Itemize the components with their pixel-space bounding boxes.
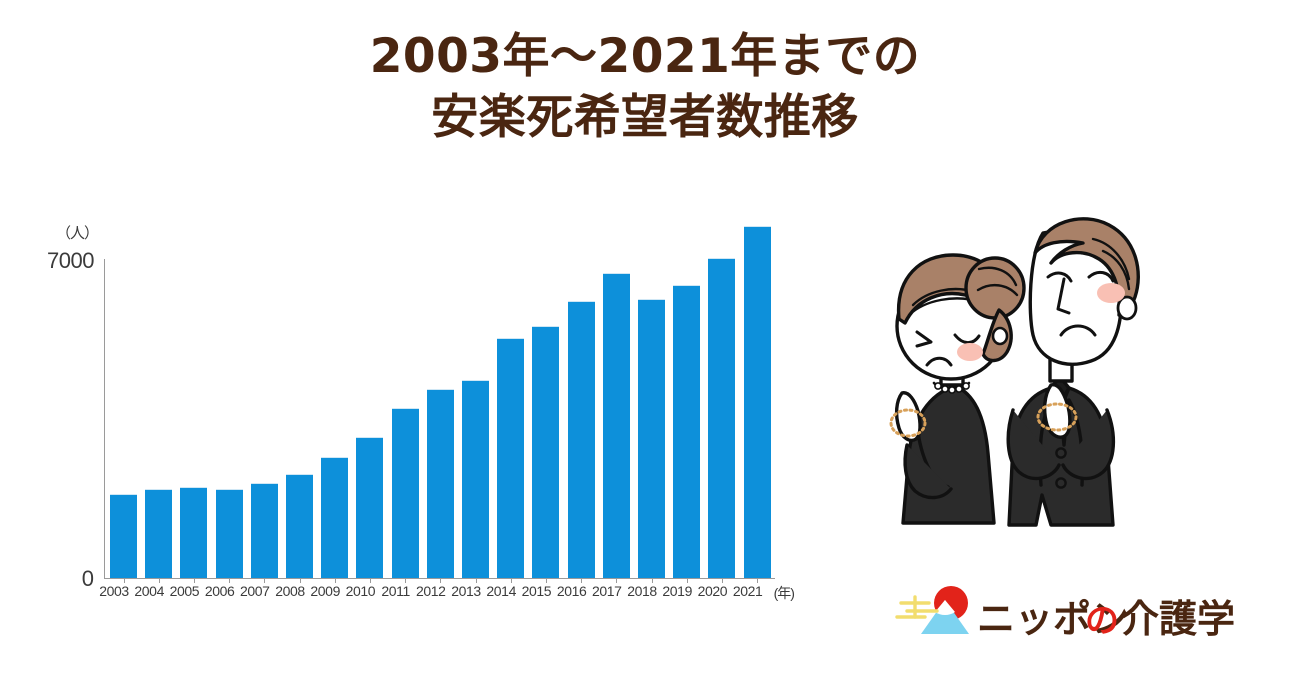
bar-2014 [497, 338, 524, 578]
bar-2020 [708, 258, 735, 578]
bar-2005 [180, 487, 207, 578]
man-cheek [1097, 283, 1125, 303]
bar-2006 [216, 489, 243, 578]
woman-cheek [957, 343, 983, 361]
bar-rect-2004 [145, 489, 172, 578]
logo-text-no: の [1085, 601, 1119, 641]
mount-fuji-icon [897, 586, 969, 634]
bar-rect-2012 [427, 389, 454, 578]
bar-rect-2017 [603, 273, 630, 578]
x-axis-unit-label: (年) [774, 583, 794, 603]
bar-2016 [568, 301, 595, 578]
bar-2010 [356, 437, 383, 578]
bar-rect-2019 [673, 285, 700, 578]
bar-2008 [286, 474, 313, 578]
bar-rect-2010 [356, 437, 383, 578]
bar-2007 [251, 483, 278, 578]
bar-2011 [392, 408, 419, 578]
bar-rect-2016 [568, 301, 595, 578]
bar-2021 [744, 226, 771, 578]
x-axis-label-2021: 2021 [725, 583, 771, 599]
bar-rect-2003 [110, 494, 137, 578]
bar-rect-2009 [321, 457, 348, 578]
bar-2018 [638, 299, 665, 578]
bar-2015 [532, 326, 559, 578]
cloud-lines [897, 597, 937, 617]
bar-2017 [603, 273, 630, 578]
bar-rect-2021 [744, 226, 771, 578]
nippon-no-kaigogaku-logo[interactable]: ニッポン の 介護学 [885, 582, 1265, 652]
site-logo[interactable]: ニッポン の 介護学 [885, 582, 1265, 652]
bar-rect-2008 [286, 474, 313, 578]
bar-rect-2020 [708, 258, 735, 578]
bar-2003 [110, 494, 137, 578]
bar-rect-2015 [532, 326, 559, 578]
bar-rect-2007 [251, 483, 278, 578]
bar-2009 [321, 457, 348, 578]
bar-2019 [673, 285, 700, 578]
bar-2013 [462, 380, 489, 578]
bar-rect-2013 [462, 380, 489, 578]
bar-2012 [427, 389, 454, 578]
bar-rect-2011 [392, 408, 419, 578]
bar-rect-2014 [497, 338, 524, 578]
bar-2004 [145, 489, 172, 578]
mourning-couple-illustration [855, 195, 1185, 555]
man-button-bottom [1056, 478, 1065, 487]
bar-rect-2006 [216, 489, 243, 578]
mourning-couple-icon [855, 195, 1185, 555]
bars-layer [0, 0, 820, 675]
bar-rect-2005 [180, 487, 207, 578]
euthanasia-requests-bar-chart: （人） 7000 0 (年) 2003200420052006200720082… [0, 0, 820, 675]
bar-rect-2018 [638, 299, 665, 578]
man-button-top [1056, 448, 1065, 457]
logo-text-kaigogaku: 介護学 [1121, 597, 1235, 641]
woman-hair-bun [966, 258, 1024, 318]
